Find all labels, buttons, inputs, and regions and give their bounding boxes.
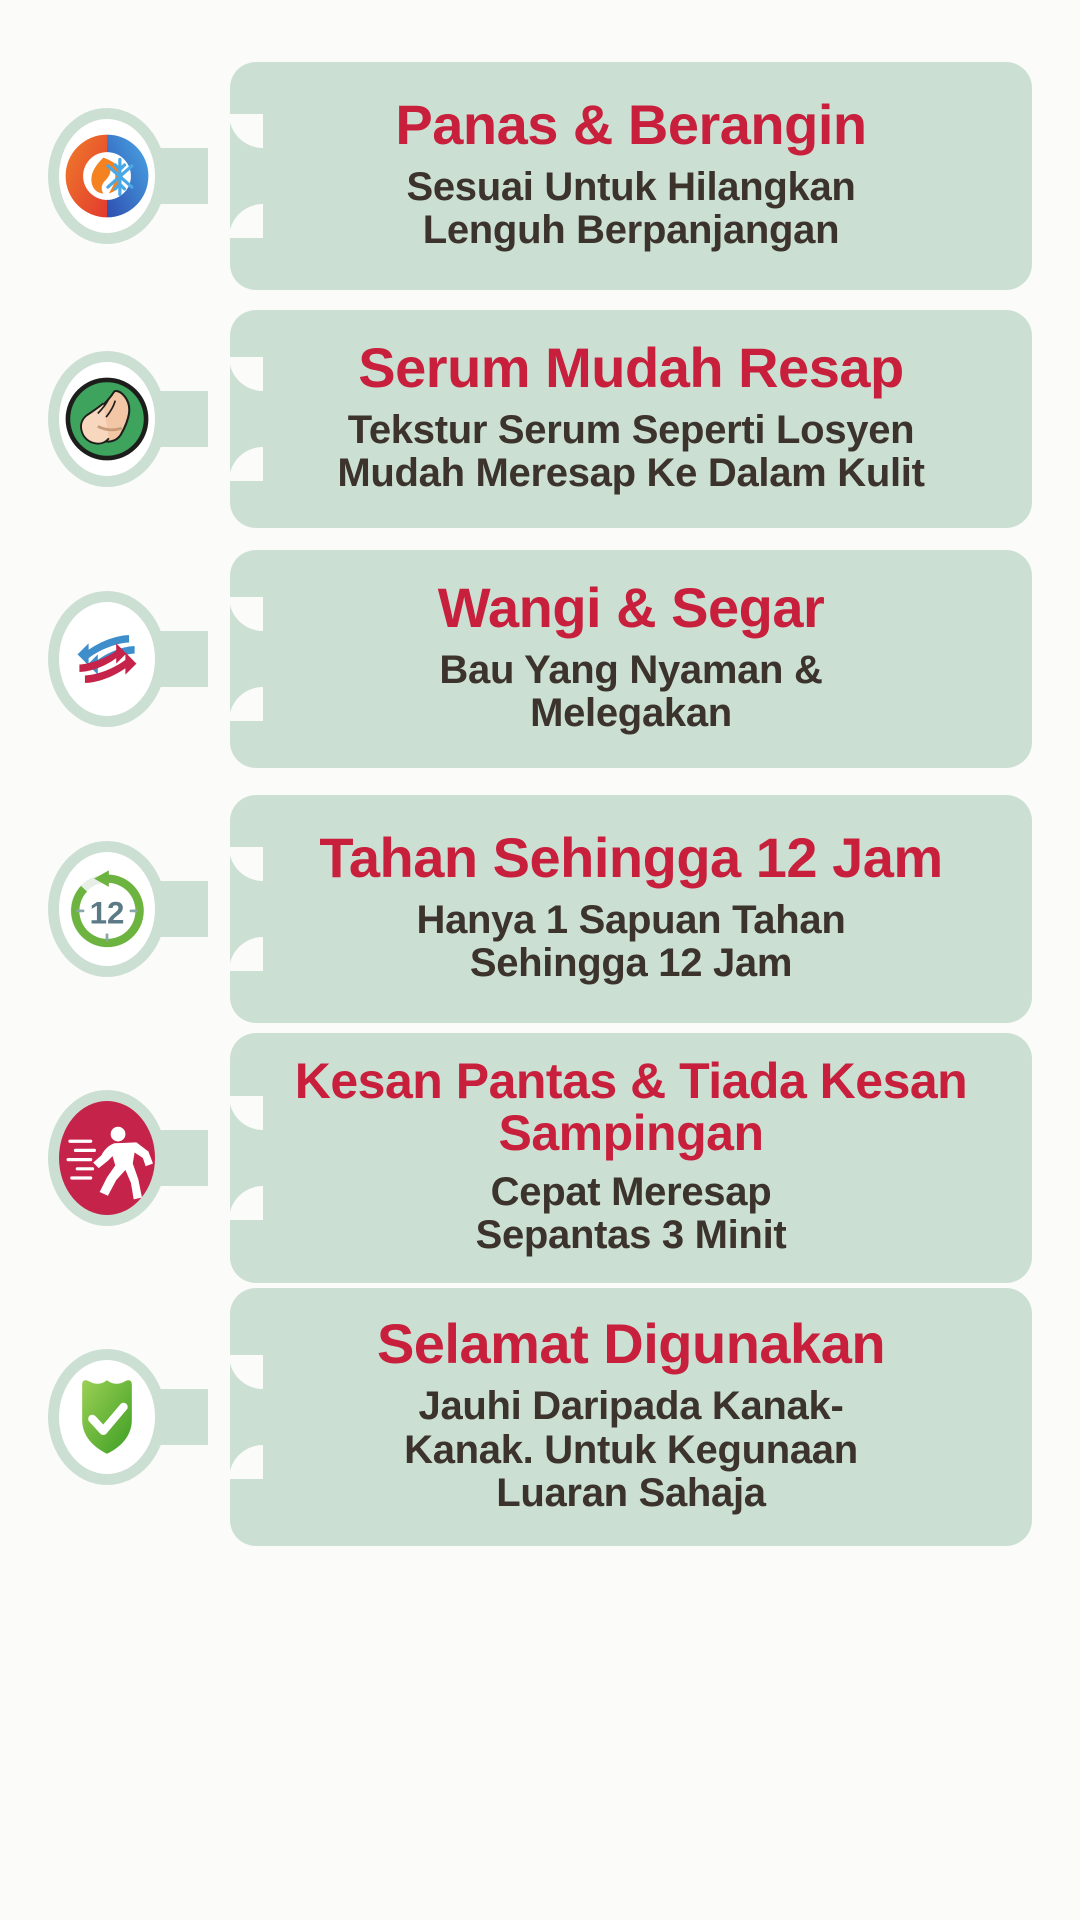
feature-row-serum-mudah-resap: Serum Mudah Resap Tekstur Serum Seperti … — [0, 310, 1080, 528]
feature-title: Kesan Pantas & Tiada Kesan Sampingan — [264, 1055, 998, 1159]
icon-slot — [0, 62, 230, 290]
icon-slot — [0, 310, 230, 528]
clock-12-hours-icon: 12 — [61, 863, 153, 955]
clock-badge-number: 12 — [90, 896, 125, 931]
feature-title: Serum Mudah Resap — [264, 339, 998, 397]
feature-title: Selamat Digunakan — [264, 1315, 998, 1373]
feature-row-kesan-pantas: Kesan Pantas & Tiada Kesan Sampingan Cep… — [0, 1042, 1080, 1274]
feature-card: Serum Mudah Resap Tekstur Serum Seperti … — [230, 310, 1032, 528]
feature-row-wangi-segar: Wangi & Segar Bau Yang Nyaman & Melegaka… — [0, 550, 1080, 768]
feature-subtitle: Tekstur Serum Seperti Losyen Mudah Meres… — [264, 409, 998, 495]
medallion — [48, 108, 166, 244]
airflow-arrows-icon — [61, 613, 153, 705]
feature-subtitle: Bau Yang Nyaman & Melegakan — [264, 649, 998, 735]
feature-subtitle: Cepat Meresap Sepantas 3 Minit — [264, 1171, 998, 1257]
feature-subtitle: Sesuai Untuk Hilangkan Lenguh Berpanjang… — [264, 166, 998, 252]
massage-hands-icon — [61, 373, 153, 465]
medallion — [48, 351, 166, 487]
icon-slot — [0, 1042, 230, 1274]
medallion — [48, 1090, 166, 1226]
shield-check-icon — [61, 1371, 153, 1463]
medallion: 12 — [48, 841, 166, 977]
feature-card: Panas & Berangin Sesuai Untuk Hilangkan … — [230, 62, 1032, 290]
feature-list-infographic: Panas & Berangin Sesuai Untuk Hilangkan … — [0, 0, 1080, 1920]
medallion — [48, 591, 166, 727]
feature-card: Kesan Pantas & Tiada Kesan Sampingan Cep… — [230, 1033, 1032, 1283]
feature-title: Wangi & Segar — [264, 579, 998, 637]
hot-cold-icon — [61, 130, 153, 222]
feature-title: Tahan Sehingga 12 Jam — [264, 829, 998, 887]
feature-row-selamat-digunakan: Selamat Digunakan Jauhi Daripada Kanak- … — [0, 1288, 1080, 1546]
icon-slot — [0, 550, 230, 768]
icon-slot: 12 — [0, 795, 230, 1023]
feature-row-panas-berangin: Panas & Berangin Sesuai Untuk Hilangkan … — [0, 62, 1080, 290]
feature-card: Tahan Sehingga 12 Jam Hanya 1 Sapuan Tah… — [230, 795, 1032, 1023]
feature-card: Wangi & Segar Bau Yang Nyaman & Melegaka… — [230, 550, 1032, 768]
icon-slot — [0, 1288, 230, 1546]
feature-title: Panas & Berangin — [264, 96, 998, 154]
medallion — [48, 1349, 166, 1485]
feature-row-tahan-12-jam: 12 Tahan Sehingga 12 Jam Hanya 1 Sapuan … — [0, 795, 1080, 1023]
feature-subtitle: Hanya 1 Sapuan Tahan Sehingga 12 Jam — [264, 899, 998, 985]
feature-card: Selamat Digunakan Jauhi Daripada Kanak- … — [230, 1288, 1032, 1546]
running-man-icon — [61, 1112, 153, 1204]
feature-subtitle: Jauhi Daripada Kanak- Kanak. Untuk Kegun… — [264, 1385, 998, 1515]
